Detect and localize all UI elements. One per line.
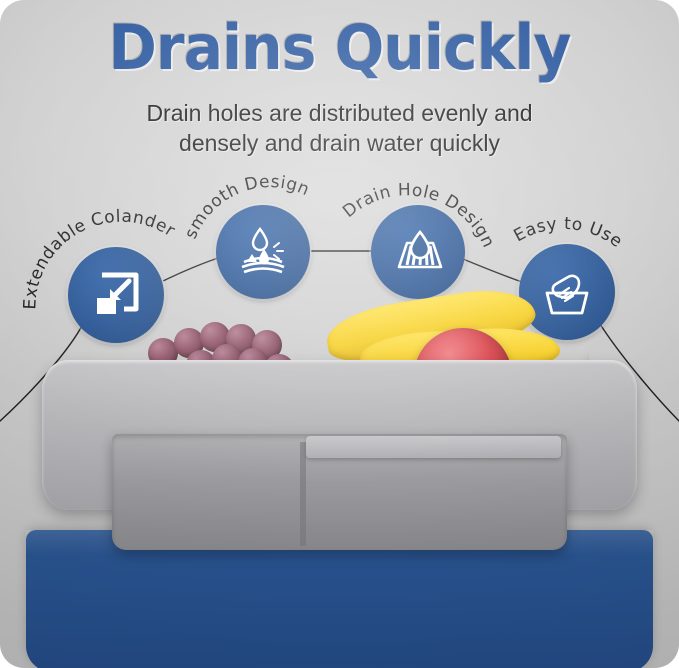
blue-base-surface	[26, 530, 653, 668]
colander-slider-panel	[306, 436, 561, 458]
colander-seam	[300, 442, 306, 546]
product-feature-card: Drains Quickly Drain holes are distribut…	[0, 0, 679, 668]
product-photo	[0, 338, 679, 668]
